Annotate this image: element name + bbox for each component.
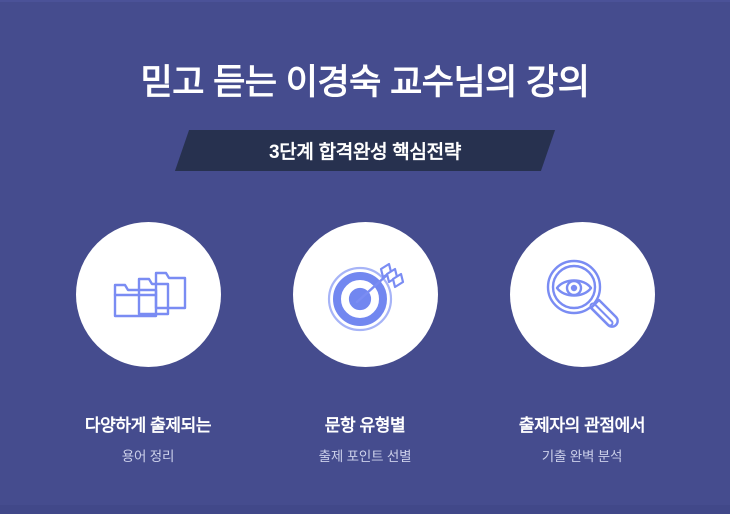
feature-title-1: 다양하게 출제되는	[85, 415, 211, 437]
bottom-strip	[0, 505, 730, 514]
subtitle-banner-label: 3단계 합격완성 핵심전략	[182, 130, 548, 171]
feature-subtitle-3: 기출 완벽 분석	[542, 448, 622, 466]
eye-magnifier-icon	[542, 255, 622, 335]
feature-title-3: 출제자의 관점에서	[519, 415, 645, 437]
folders-icon	[109, 263, 187, 327]
feature-subtitle-2: 출제 포인트 선별	[319, 448, 412, 466]
top-hairline	[0, 0, 730, 2]
feature-item-terminology: 다양하게 출제되는 용어 정리	[76, 222, 221, 466]
target-arrow-icon	[324, 257, 406, 333]
icon-circle-3	[510, 222, 655, 367]
feature-item-question-types: 문항 유형별 출제 포인트 선별	[293, 222, 438, 466]
feature-list: 다양하게 출제되는 용어 정리	[0, 222, 730, 466]
subtitle-banner: 3단계 합격완성 핵심전략	[182, 130, 548, 171]
icon-circle-2	[293, 222, 438, 367]
icon-circle-1	[76, 222, 221, 367]
feature-item-analysis: 출제자의 관점에서 기출 완벽 분석	[510, 222, 655, 466]
page-title: 믿고 듣는 이경숙 교수님의 강의	[0, 61, 730, 105]
feature-subtitle-1: 용어 정리	[122, 448, 174, 466]
feature-title-2: 문항 유형별	[325, 415, 406, 437]
promo-banner-canvas: 믿고 듣는 이경숙 교수님의 강의 3단계 합격완성 핵심전략	[0, 0, 730, 514]
